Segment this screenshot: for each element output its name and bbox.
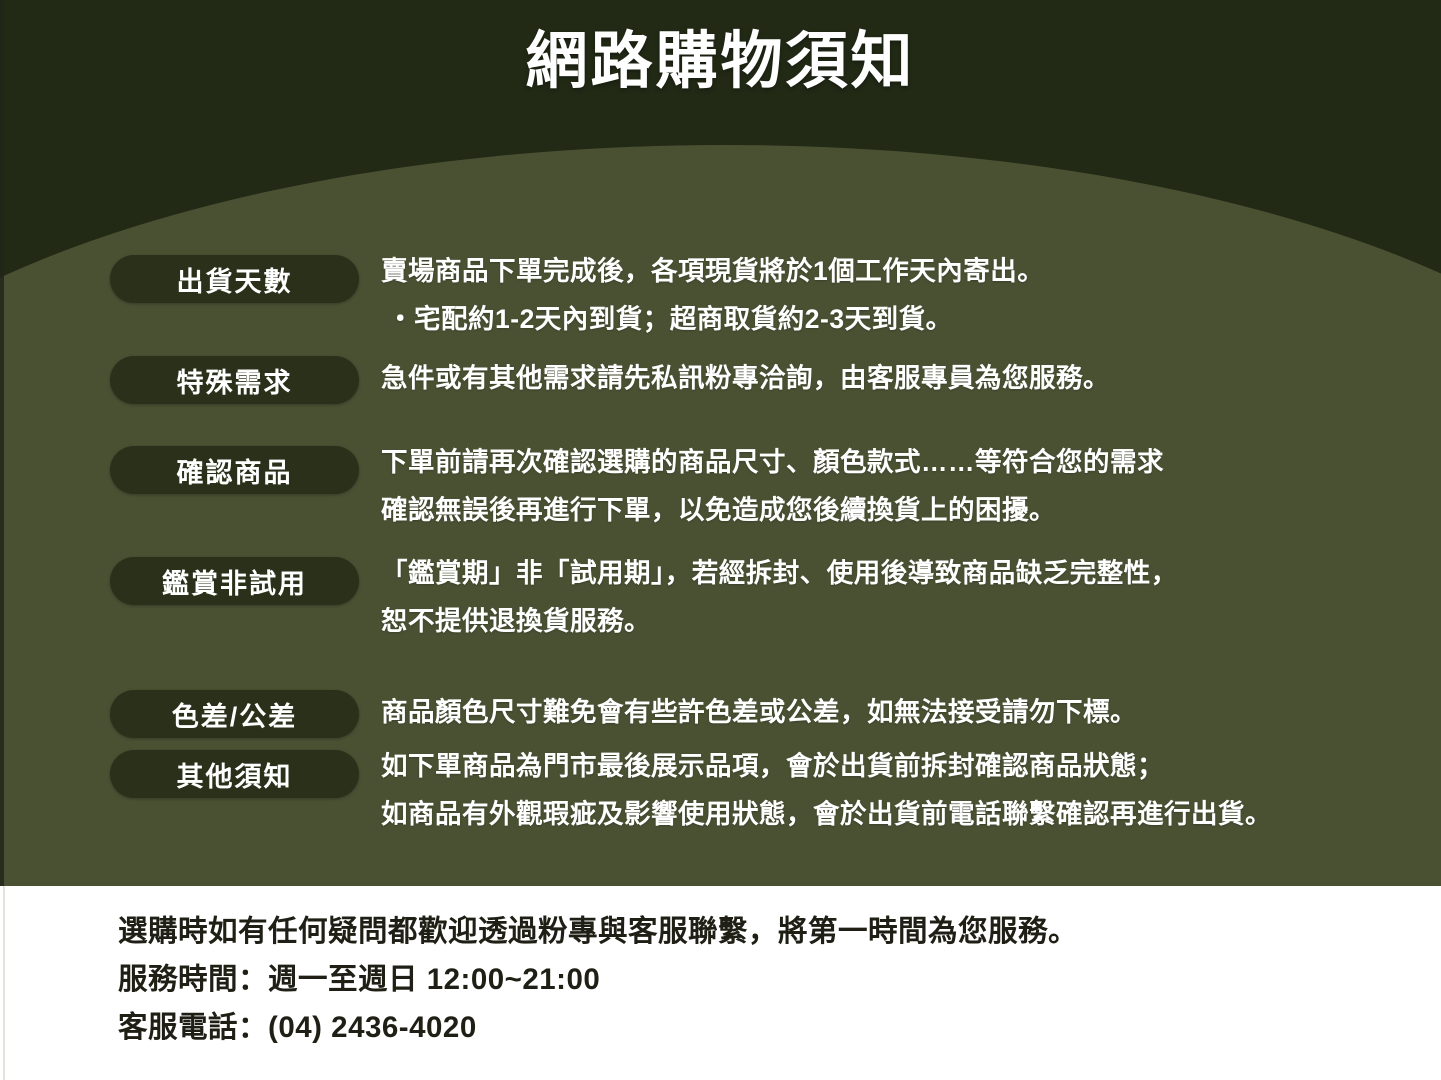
- row-body-line: 賣場商品下單完成後，各項現貨將於1個工作天內寄出。: [381, 247, 1421, 295]
- row-body-shipping-days: 賣場商品下單完成後，各項現貨將於1個工作天內寄出。 ・宅配約1-2天內到貨；超商…: [381, 247, 1421, 343]
- row-label-other-notes: 其他須知: [110, 750, 359, 798]
- footer-line-service-hours: 服務時間：週一至週日 12:00~21:00: [118, 956, 1078, 1004]
- row-body-line: ・宅配約1-2天內到貨；超商取貨約2-3天到貨。: [381, 295, 1421, 343]
- row-body-line: 商品顏色尺寸難免會有些許色差或公差，如無法接受請勿下標。: [381, 688, 1421, 736]
- row-body-line: 下單前請再次確認選購的商品尺寸、顏色款式……等符合您的需求: [381, 438, 1421, 486]
- row-body-line: 恕不提供退換貨服務。: [381, 597, 1421, 645]
- shopping-notice-page: 網路購物須知 出貨天數 賣場商品下單完成後，各項現貨將於1個工作天內寄出。 ・宅…: [0, 0, 1441, 1080]
- row-body-line: 如下單商品為門市最後展示品項，會於出貨前拆封確認商品狀態；: [381, 742, 1421, 790]
- row-label-color-tolerance: 色差/公差: [110, 690, 359, 738]
- notice-rows: 出貨天數 賣場商品下單完成後，各項現貨將於1個工作天內寄出。 ・宅配約1-2天內…: [0, 0, 1441, 886]
- row-body-special-requests: 急件或有其他需求請先私訊粉專洽詢，由客服專員為您服務。: [381, 354, 1421, 402]
- row-body-inspection-not-trial: 「鑑賞期」非「試用期」，若經拆封、使用後導致商品缺乏完整性， 恕不提供退換貨服務…: [381, 549, 1421, 645]
- row-body-line: 如商品有外觀瑕疵及影響使用狀態，會於出貨前電話聯繫確認再進行出貨。: [381, 790, 1421, 838]
- footer-panel: 選購時如有任何疑問都歡迎透過粉專與客服聯繫，將第一時間為您服務。 服務時間：週一…: [0, 886, 1441, 1080]
- row-label-inspection-not-trial: 鑑賞非試用: [110, 557, 359, 605]
- row-body-line: 「鑑賞期」非「試用期」，若經拆封、使用後導致商品缺乏完整性，: [381, 549, 1421, 597]
- row-body-line: 急件或有其他需求請先私訊粉專洽詢，由客服專員為您服務。: [381, 354, 1421, 402]
- row-label-confirm-product: 確認商品: [110, 446, 359, 494]
- footer-contact-block: 選購時如有任何疑問都歡迎透過粉專與客服聯繫，將第一時間為您服務。 服務時間：週一…: [118, 908, 1078, 1052]
- footer-left-accent-strip: [3, 886, 5, 1080]
- row-label-special-requests: 特殊需求: [110, 356, 359, 404]
- footer-line-service-phone: 客服電話：(04) 2436-4020: [118, 1004, 1078, 1052]
- row-label-shipping-days: 出貨天數: [110, 255, 359, 303]
- footer-line-contact-invite: 選購時如有任何疑問都歡迎透過粉專與客服聯繫，將第一時間為您服務。: [118, 908, 1078, 956]
- row-body-confirm-product: 下單前請再次確認選購的商品尺寸、顏色款式……等符合您的需求 確認無誤後再進行下單…: [381, 438, 1421, 534]
- row-body-color-tolerance: 商品顏色尺寸難免會有些許色差或公差，如無法接受請勿下標。: [381, 688, 1421, 736]
- row-body-other-notes: 如下單商品為門市最後展示品項，會於出貨前拆封確認商品狀態； 如商品有外觀瑕疵及影…: [381, 742, 1421, 838]
- row-body-line: 確認無誤後再進行下單，以免造成您後續換貨上的困擾。: [381, 486, 1421, 534]
